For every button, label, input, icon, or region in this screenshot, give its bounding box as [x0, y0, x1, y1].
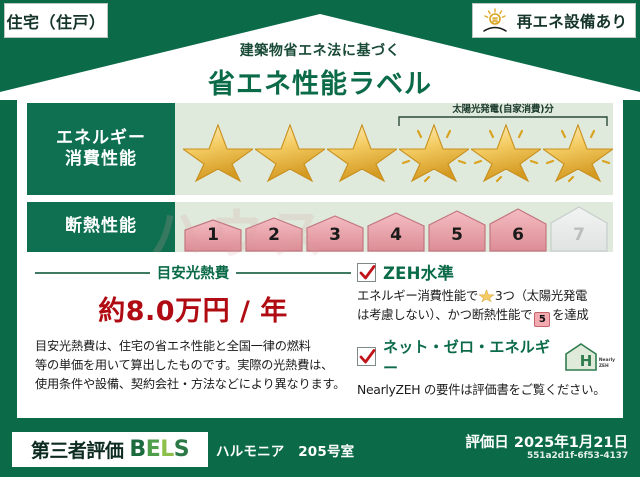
energy-performance-value: 太陽光発電(自家消費)分	[175, 103, 613, 195]
title-subtitle: 建築物省エネ法に基づく	[0, 40, 640, 60]
label-footer: 第三者評価 BELS ハルモニア 205号室 評価日 2025年1月21日 55…	[0, 423, 640, 477]
property-name: ハルモニア 205号室	[216, 440, 354, 460]
star-6-solar	[543, 119, 613, 185]
star-1	[183, 119, 253, 185]
check-icon	[359, 264, 376, 282]
star-5-solar	[471, 119, 541, 185]
zeh-note-line2-pre: は考慮しない）、かつ断熱性能で	[357, 307, 532, 322]
zeh-standard-title: ZEH水準	[383, 260, 454, 284]
energy-label-line1: エネルギー	[56, 128, 146, 149]
insulation-performance-label: 断熱性能	[27, 202, 175, 252]
title-main: 省エネ性能ラベル	[0, 62, 640, 101]
insulation-grade-4-number: 4	[366, 225, 426, 245]
insulation-grade-1-number: 1	[183, 225, 243, 245]
bels-en-logo: BELS	[129, 437, 189, 462]
zeh-standard-heading: ZEH水準	[357, 260, 615, 284]
zeh-note-pre: エネルギー消費性能で	[357, 288, 478, 303]
utility-cost-heading-text: 目安光熱費	[157, 262, 230, 283]
zeh-netzero-heading: ネット・ゼロ・エネルギー H Nearly ZEH	[357, 336, 615, 378]
zeh-netzero-note: NearlyZEH の要件は評価書をご覧ください。	[357, 381, 615, 400]
nearly-zeh-logo: H Nearly ZEH	[564, 342, 615, 372]
utility-cost-heading: 目安光熱費	[35, 262, 351, 283]
energy-performance-label: エネルギー 消費性能	[27, 103, 175, 195]
energy-performance-row: エネルギー 消費性能 太陽光発電(自家消費)分	[27, 103, 613, 195]
nearly-zeh-caption: Nearly ZEH	[599, 358, 615, 371]
inline-grade-badge: 5	[534, 312, 550, 327]
zeh-standard-note: エネルギー消費性能で3つ（太陽光発電 は考慮しない）、かつ断熱性能で5を達成	[357, 287, 615, 327]
renewable-equipment-badge: 再 再エネ設備あり	[472, 3, 636, 38]
insulation-grade-1: 1	[183, 218, 243, 252]
inline-star-icon	[479, 288, 494, 303]
insulation-grade-7: 7	[549, 205, 609, 252]
utility-cost-amount: 約8.0万円 / 年	[35, 289, 351, 328]
svg-text:再: 再	[491, 16, 498, 24]
zeh-note-mid: 3つ（太陽光発電	[495, 288, 587, 303]
evaluation-id: 551a2d1f-6f53-4137	[527, 451, 628, 461]
label-body-card: エネルギー 消費性能 太陽光発電(自家消費)分	[17, 96, 623, 418]
heading-rule-left	[35, 272, 150, 274]
insulation-grade-6: 6	[488, 207, 548, 252]
zeh-note-line2-post: を達成	[552, 307, 588, 322]
nearly-zeh-caption-2: ZEH	[599, 364, 609, 369]
bels-jp-label: 第三者評価	[31, 436, 124, 463]
insulation-grade-5: 5	[427, 209, 487, 252]
star-2	[255, 119, 325, 185]
insulation-grade-6-number: 6	[488, 225, 548, 245]
insulation-grade-2: 2	[244, 216, 304, 252]
insulation-grade-5-number: 5	[427, 225, 487, 245]
energy-star-rating	[183, 119, 613, 185]
insulation-grade-2-number: 2	[244, 225, 304, 245]
energy-label-line2: 消費性能	[65, 149, 137, 170]
zeh-netzero-checkbox[interactable]	[357, 347, 376, 366]
utility-cost-note-line3: 使用条件や設備、契約会社・方法などにより異なります。	[35, 375, 351, 394]
insulation-performance-value: 1 2 3	[175, 202, 613, 252]
evaluation-date-value: 2025年1月21日	[514, 435, 628, 451]
sun-solar-icon: 再	[481, 8, 511, 34]
evaluation-date: 評価日 2025年1月21日	[465, 431, 628, 452]
insulation-label-line1: 断熱性能	[65, 216, 137, 237]
insulation-performance-row: 断熱性能 1	[27, 202, 613, 252]
energy-performance-label: 住宅（住戸） 再 再エネ設備あり 建築物省エネ法に基づく 省エネ性能ラベル エネ…	[0, 0, 640, 477]
svg-text:H: H	[580, 352, 593, 370]
star-4-solar	[399, 119, 469, 185]
nearly-zeh-house-icon: H	[564, 342, 598, 372]
utility-cost-note: 目安光熱費は、住宅の省エネ性能と全国一律の燃料 等の単価を用いて算出したものです…	[35, 337, 351, 394]
label-title-block: 建築物省エネ法に基づく 省エネ性能ラベル	[0, 40, 640, 101]
heading-rule-right	[236, 272, 351, 274]
utility-cost-note-line2: 等の単価を用いて算出したものです。実際の光熱費は、	[35, 356, 351, 375]
check-icon	[359, 348, 376, 366]
renewable-equipment-label: 再エネ設備あり	[517, 10, 628, 32]
insulation-grade-3: 3	[305, 214, 365, 252]
insulation-grade-7-number: 7	[549, 225, 609, 245]
insulation-grade-3-number: 3	[305, 225, 365, 245]
dwelling-type-label: 住宅（住戸）	[6, 9, 105, 33]
evaluation-date-label: 評価日	[465, 435, 509, 451]
insulation-grade-scale: 1 2 3	[183, 205, 609, 252]
insulation-grade-4: 4	[366, 211, 426, 252]
zeh-netzero-title: ネット・ゼロ・エネルギー	[383, 336, 555, 378]
zeh-standard-checkbox[interactable]	[357, 263, 376, 282]
utility-cost-note-line1: 目安光熱費は、住宅の省エネ性能と全国一律の燃料	[35, 337, 351, 356]
bels-badge: 第三者評価 BELS	[12, 432, 208, 467]
utility-cost-block: 目安光熱費 約8.0万円 / 年 目安光熱費は、住宅の省エネ性能と全国一律の燃料…	[35, 262, 351, 394]
dwelling-type-badge: 住宅（住戸）	[4, 3, 108, 38]
star-3	[327, 119, 397, 185]
zeh-block: ZEH水準 エネルギー消費性能で3つ（太陽光発電 は考慮しない）、かつ断熱性能で…	[357, 260, 615, 399]
